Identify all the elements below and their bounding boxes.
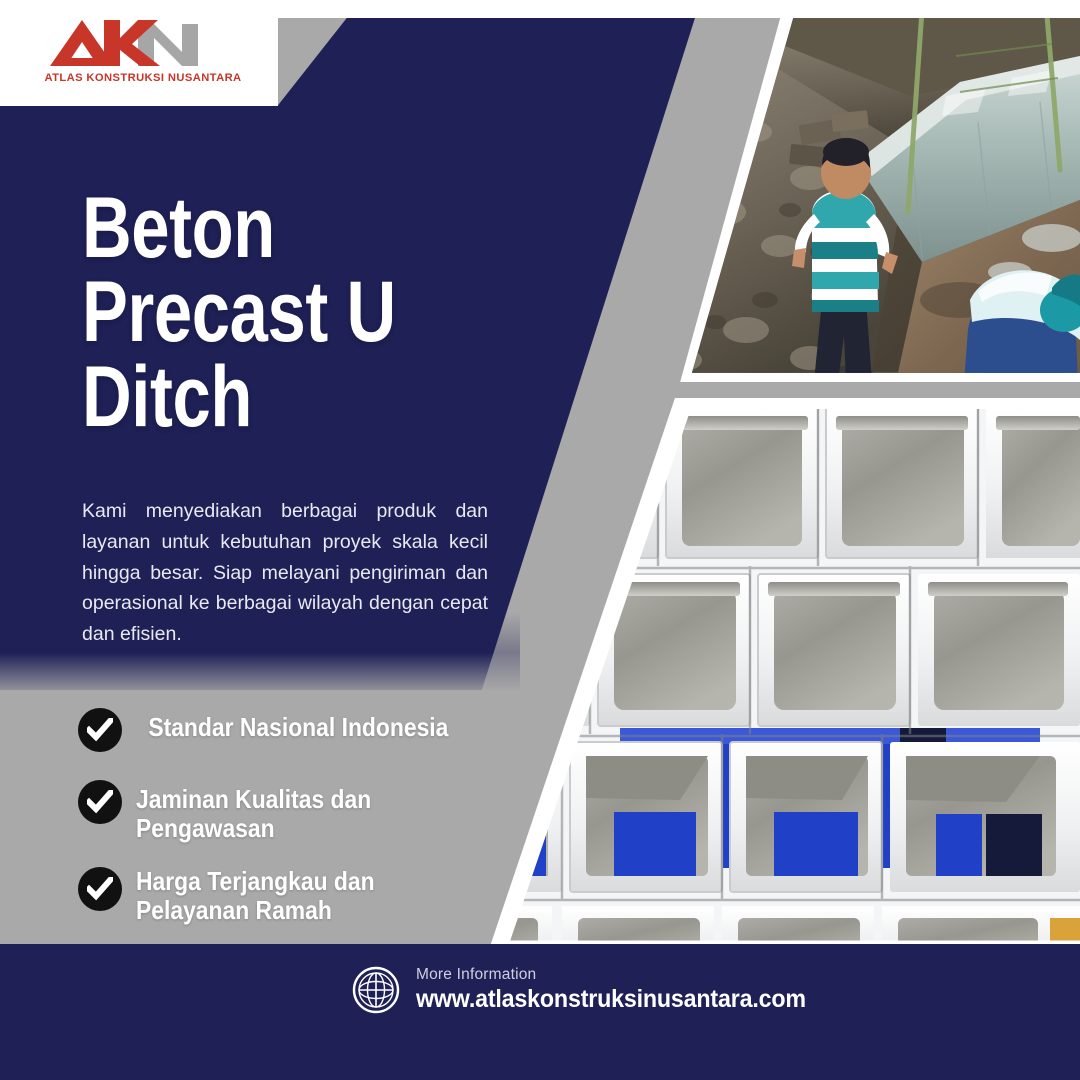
title-line-2: Precast U [82,270,426,354]
logo-card: ATLAS KONSTRUKSI NUSANTARA [0,0,278,106]
more-information-label: More Information [416,966,835,984]
footer-contact[interactable]: More Information www.atlaskonstruksinusa… [352,966,835,1014]
akn-monogram-icon [42,16,242,68]
list-item: Standar Nasional Indonesia [78,706,518,756]
check-circle-icon [78,708,122,752]
title-line-3: Ditch [82,355,426,439]
page-title: Beton Precast U Ditch [82,186,426,439]
website-url[interactable]: www.atlaskonstruksinusantara.com [416,985,806,1014]
globe-icon [352,966,400,1014]
feature-label: Jaminan Kualitas dan Pengawasan [136,778,472,843]
logo-tagline: ATLAS KONSTRUKSI NUSANTARA [40,72,246,84]
feature-list: Standar Nasional Indonesia Jaminan Kuali… [78,706,518,925]
hero-description: Kami menyediakan berbagai produk dan lay… [82,496,488,650]
footer-bar: More Information www.atlaskonstruksinusa… [0,944,1080,1080]
check-circle-icon [78,867,122,911]
feature-label: Harga Terjangkau dan Pelayanan Ramah [136,865,472,925]
title-line-1: Beton [82,186,426,270]
list-item: Harga Terjangkau dan Pelayanan Ramah [78,865,518,925]
promo-poster: ATLAS KONSTRUKSI NUSANTARA Beton Precast… [0,0,1080,1080]
feature-label: Standar Nasional Indonesia [136,706,472,742]
list-item: Jaminan Kualitas dan Pengawasan [78,778,518,843]
check-circle-icon [78,780,122,824]
brand-logo[interactable]: ATLAS KONSTRUKSI NUSANTARA [42,16,242,92]
